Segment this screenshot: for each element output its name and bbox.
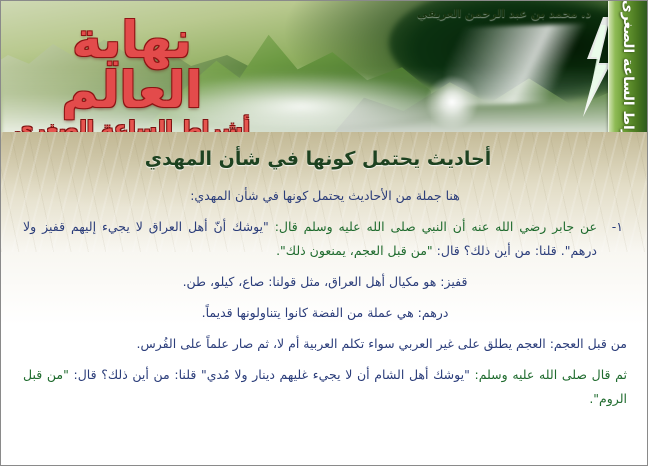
content-area: أحاديث يحتمل كونها في شأن المهدي هنا جمل… <box>1 132 647 465</box>
header-banner: نهاية العالم أشراط الساعة الصغرى د. محمد… <box>1 1 648 132</box>
book-title-art: نهاية العالم أشراط الساعة الصغرى <box>7 15 257 132</box>
hadith-number: ١- <box>612 215 623 239</box>
explanation-ajam: من قبل العجم: العجم يطلق على غير العربي … <box>23 332 627 356</box>
closing-dialog: قلنا: من أين ذلك؟ قال: <box>73 367 196 382</box>
closing-paragraph: ثم قال صلى الله عليه وسلم: "يوشك أهل الش… <box>23 363 627 411</box>
mountain-left <box>1 22 281 132</box>
hadith-item-1: ١-عن جابر رضي الله عنه أن النبي صلى الله… <box>23 215 627 263</box>
mist-overlay <box>1 66 648 132</box>
sky-background <box>1 1 648 132</box>
closing-quote-1: "يوشك أهل الشام أن لا يجيء غليهم دينار و… <box>201 367 470 382</box>
impact-flash-icon <box>425 75 479 129</box>
page-title: أحاديث يحتمل كونها في شأن المهدي <box>17 148 631 170</box>
page-root: نهاية العالم أشراط الساعة الصغرى د. محمد… <box>0 0 648 466</box>
author-name: د. محمد بن عبد الرحمن العريفي <box>417 7 591 20</box>
closing-lead: ثم قال صلى الله عليه وسلم: <box>474 367 626 382</box>
book-title: نهاية العالم <box>7 15 257 115</box>
body-text: هنا جملة من الأحاديث يحتمل كونها في شأن … <box>17 184 631 411</box>
explanation-dirham: درهم: هي عملة من الفضة كانوا يتناولونها … <box>23 301 627 325</box>
mist-puff <box>151 74 451 128</box>
mountain-right <box>331 40 648 132</box>
hadith-dialog: قلنا: من أين ذلك؟ قال: <box>437 243 557 258</box>
explanation-qafeez: قفيز: هو مكيال أهل العراق، مثل قولنا: صا… <box>23 270 627 294</box>
mountain-center <box>141 24 431 132</box>
hadith-quote-2: "من قبل العجم، يمنعون ذلك". <box>276 243 433 258</box>
hadith-narration: عن جابر رضي الله عنه أن النبي صلى الله ع… <box>275 219 597 234</box>
intro-paragraph: هنا جملة من الأحاديث يحتمل كونها في شأن … <box>23 184 627 208</box>
book-subtitle: أشراط الساعة الصغرى <box>7 119 257 132</box>
